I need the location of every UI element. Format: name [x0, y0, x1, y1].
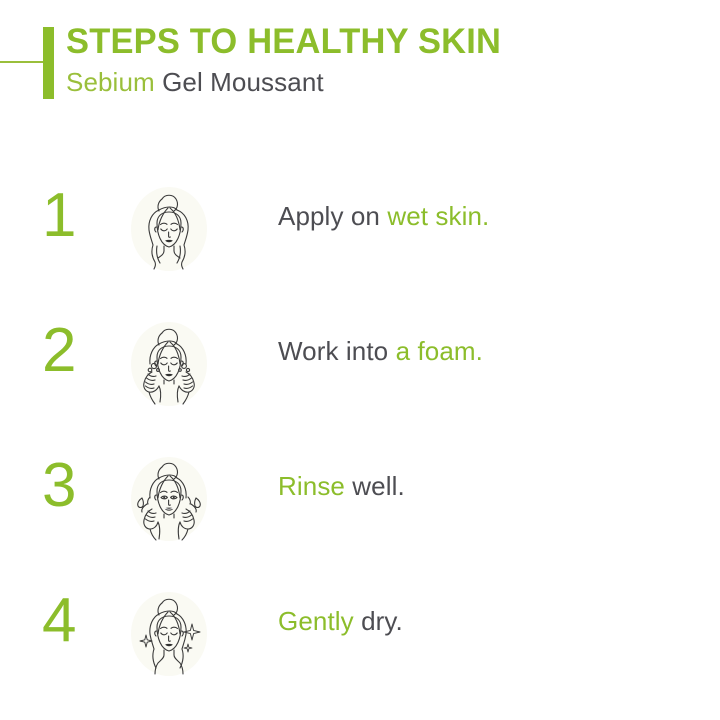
face-sparkle-dry-icon — [122, 588, 216, 682]
step-text-dark: dry. — [354, 606, 403, 636]
face-rinse-water-icon — [122, 453, 216, 547]
page-title: STEPS TO HEALTHY SKIN — [66, 21, 501, 63]
step-number: 1 — [42, 181, 94, 251]
face-plain-icon — [122, 183, 216, 277]
step-number: 2 — [42, 316, 94, 386]
step-description: Gently dry. — [278, 604, 403, 638]
step-text-highlight: wet skin. — [387, 201, 489, 231]
step-text-highlight: Gently — [278, 606, 354, 636]
step-description: Rinse well. — [278, 469, 405, 503]
header: STEPS TO HEALTHY SKIN Sebium Gel Moussan… — [0, 0, 720, 130]
steps-list: 1 — [0, 175, 720, 715]
step-text-highlight: Rinse — [278, 471, 345, 501]
product-name: Gel Moussant — [162, 67, 324, 97]
brand-name: Sebium — [66, 67, 155, 97]
step-text-highlight: a foam. — [396, 336, 483, 366]
list-item: 4 — [0, 580, 720, 715]
step-text-dark: Apply on — [278, 201, 387, 231]
page-subtitle: Sebium Gel Moussant — [66, 66, 324, 98]
step-number: 3 — [42, 451, 94, 521]
header-accent-bar — [43, 27, 54, 99]
list-item: 3 — [0, 445, 720, 580]
step-text-dark: well. — [345, 471, 405, 501]
header-rule-line — [0, 61, 44, 63]
list-item: 2 — [0, 310, 720, 445]
step-text-dark: Work into — [278, 336, 396, 366]
list-item: 1 — [0, 175, 720, 310]
step-description: Work into a foam. — [278, 334, 483, 368]
step-description: Apply on wet skin. — [278, 199, 489, 233]
face-massage-hands-icon — [122, 318, 216, 412]
step-number: 4 — [42, 586, 94, 656]
